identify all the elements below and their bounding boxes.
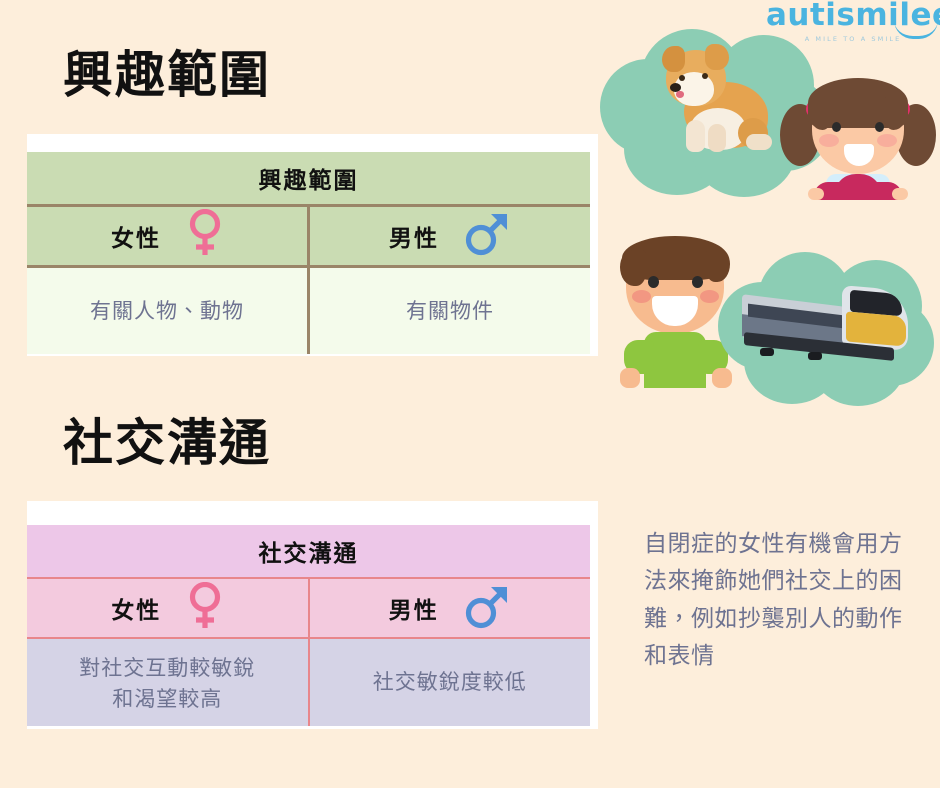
social-cell-male: 社交敏銳度較低 — [309, 638, 591, 726]
infographic-page: autismilee A MILE TO A SMILE — [0, 0, 940, 788]
social-table-title: 社交溝通 — [27, 525, 590, 578]
interest-male-label: 男性 — [389, 219, 439, 253]
female-symbol-icon — [187, 209, 223, 262]
side-note-text: 自閉症的女性有機會用方法來掩飾她們社交上的困難，例如抄襲別人的動作和表情 — [644, 526, 904, 675]
table-body-row: 對社交互動較敏銳 和渴望較高 社交敏銳度較低 — [27, 638, 590, 726]
social-female-label: 女性 — [111, 591, 161, 625]
interest-table-panel: 興趣範圍 女性 — [27, 134, 598, 356]
social-male-label: 男性 — [389, 591, 439, 625]
male-symbol-icon — [465, 210, 511, 261]
page-title-interest: 興趣範圍 — [63, 50, 271, 100]
table-header-row: 女性 男性 — [27, 205, 590, 266]
social-header-female: 女性 — [27, 578, 309, 638]
page-title-social: 社交溝通 — [63, 418, 271, 468]
interest-table-title: 興趣範圍 — [27, 152, 590, 205]
table-body-row: 有關人物、動物 有關物件 — [27, 266, 590, 354]
male-symbol-icon — [465, 583, 511, 634]
interest-female-label: 女性 — [111, 219, 161, 253]
train-photo — [742, 278, 914, 370]
puppy-photo — [650, 42, 782, 160]
table-title-row: 社交溝通 — [27, 525, 590, 578]
social-cell-female-line2: 和渴望較高 — [35, 684, 300, 714]
social-table-panel: 社交溝通 女性 — [27, 501, 598, 729]
interest-header-female: 女性 — [27, 205, 309, 266]
interest-cell-female: 有關人物、動物 — [27, 266, 309, 354]
social-cell-female-line1: 對社交互動較敏銳 — [35, 653, 300, 683]
social-header-male: 男性 — [309, 578, 591, 638]
interest-header-male: 男性 — [309, 205, 591, 266]
table-title-row: 興趣範圍 — [27, 152, 590, 205]
girl-avatar — [778, 78, 938, 200]
female-symbol-icon — [187, 582, 223, 635]
interest-cell-male: 有關物件 — [309, 266, 591, 354]
social-table: 社交溝通 女性 — [27, 525, 590, 726]
table-header-row: 女性 男性 — [27, 578, 590, 638]
interest-table: 興趣範圍 女性 — [27, 152, 590, 354]
social-cell-female: 對社交互動較敏銳 和渴望較高 — [27, 638, 309, 726]
